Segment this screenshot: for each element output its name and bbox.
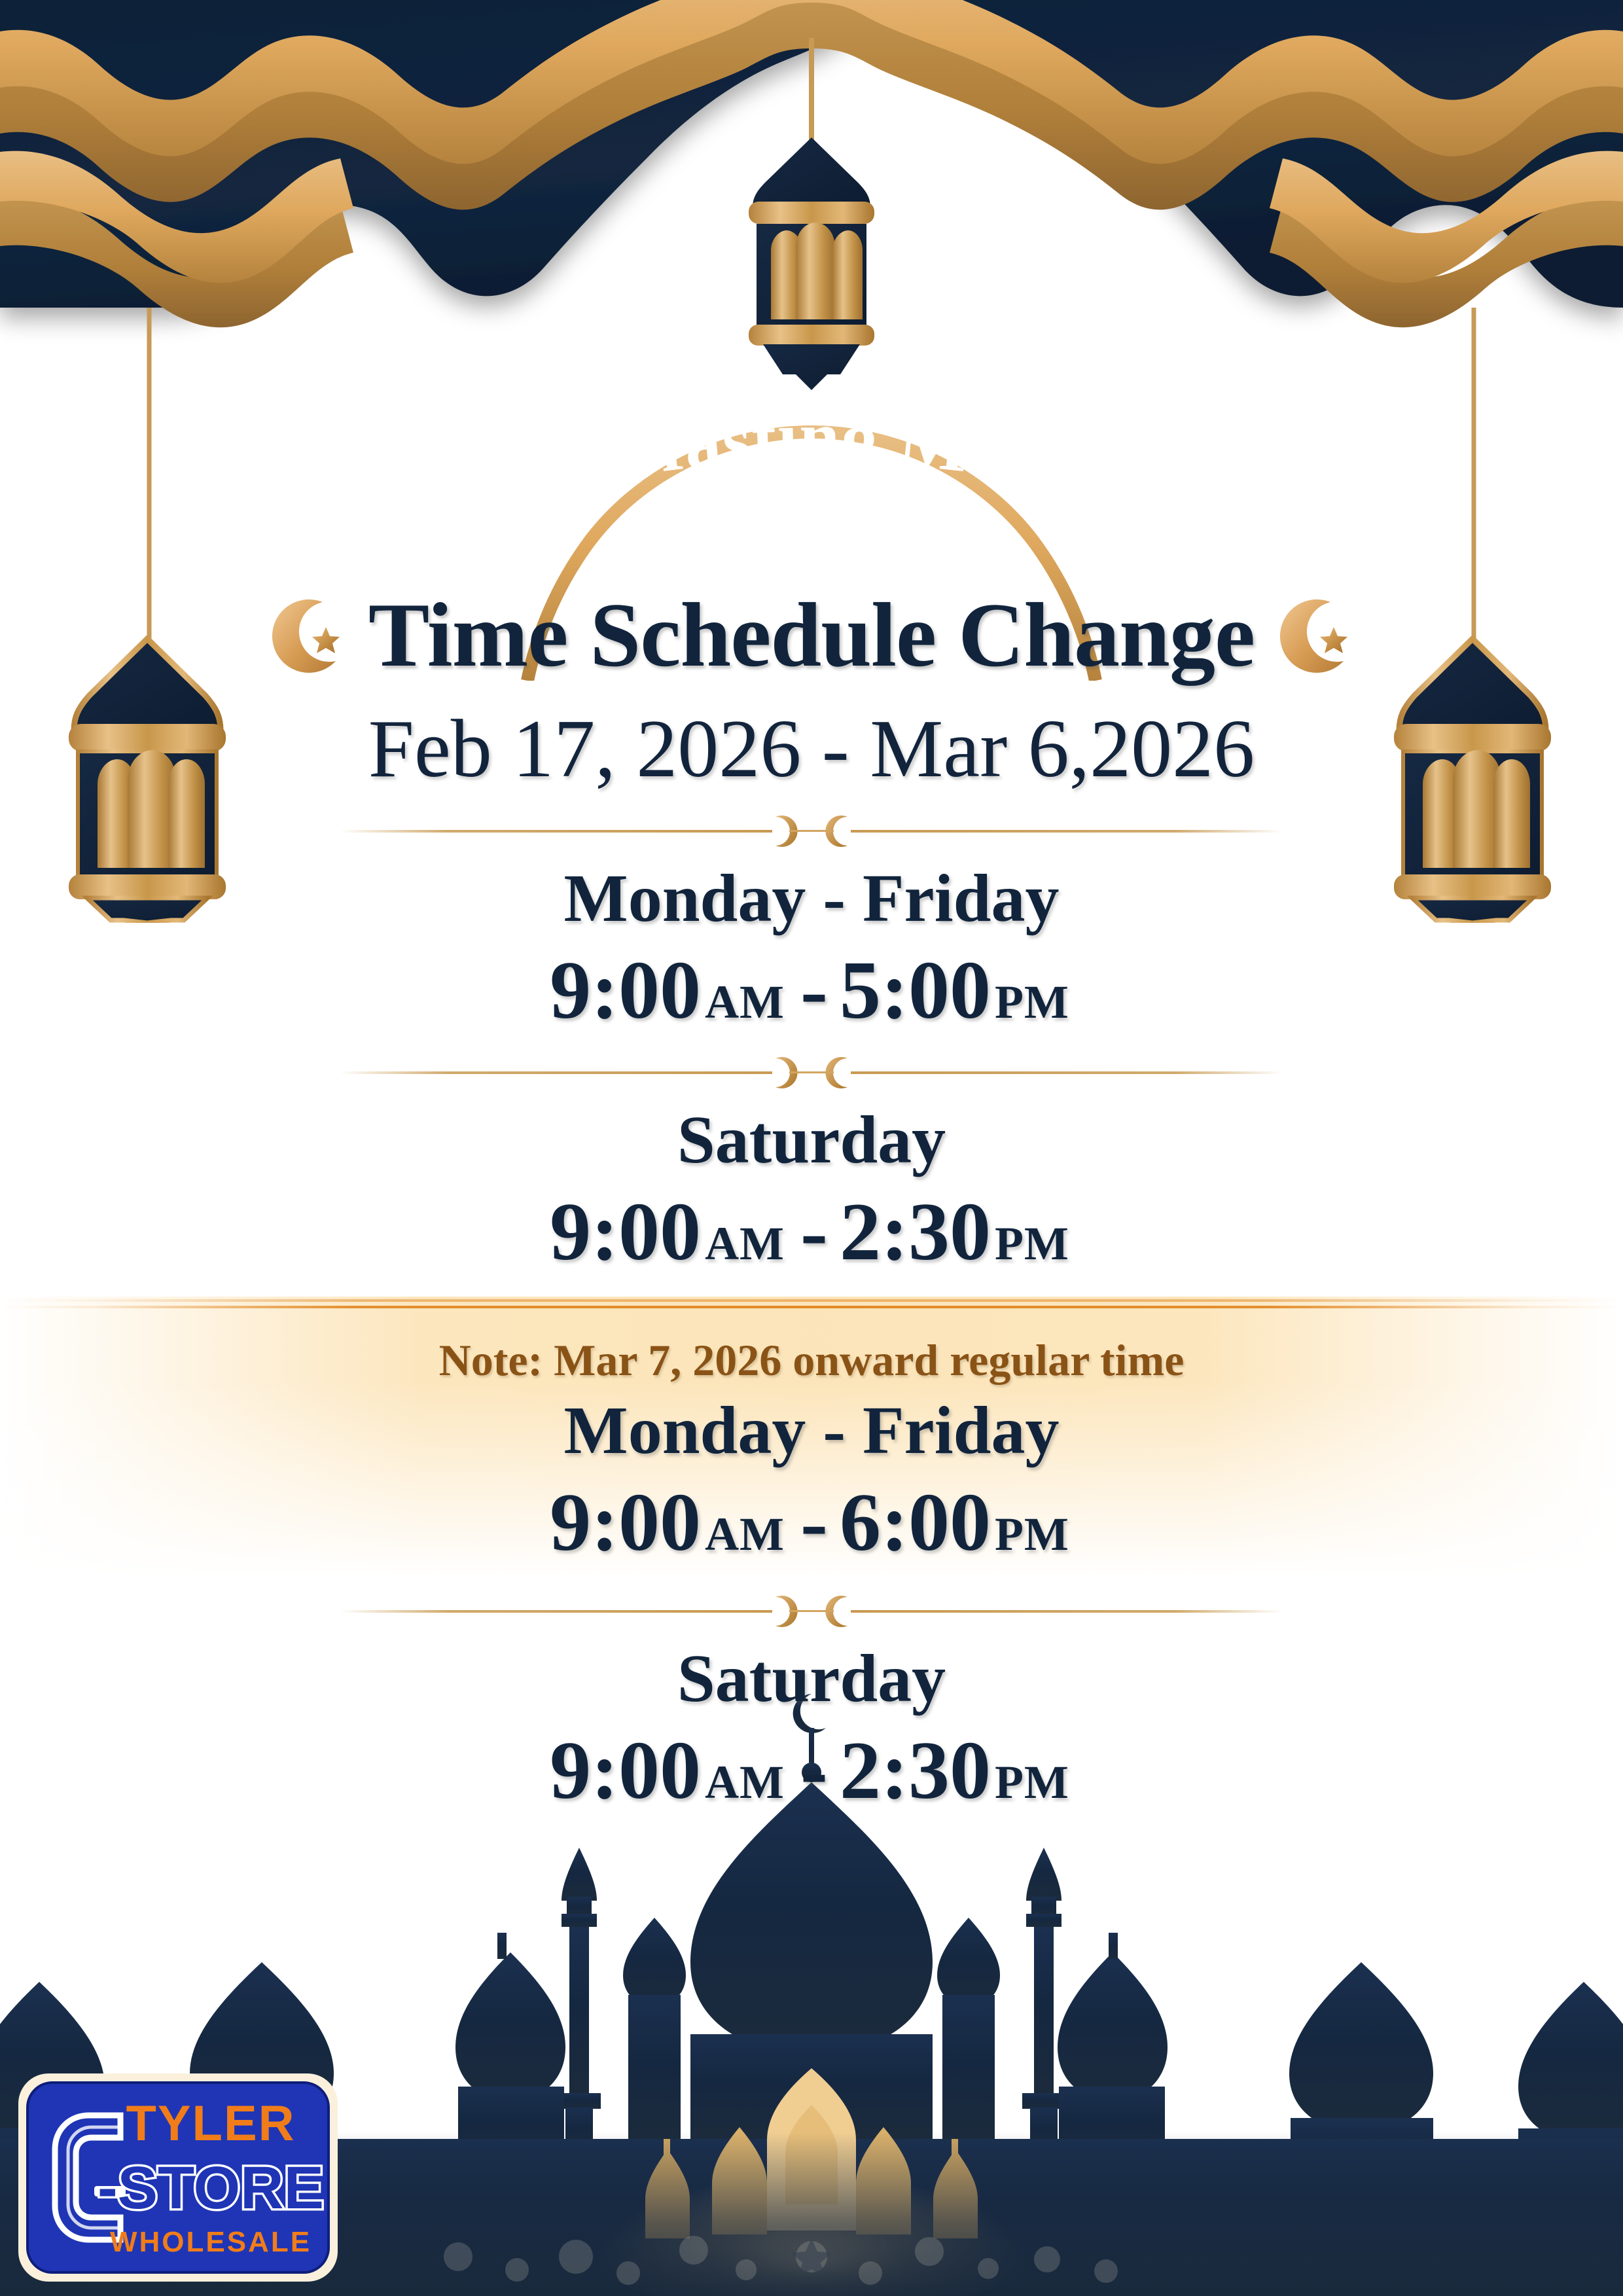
crescent-moon-star-icon [1273,593,1358,678]
time-dash: - [789,1725,840,1816]
close-meridiem: PM [991,1508,1073,1560]
crescent-moon-star-icon [265,593,350,678]
close-time: 2:30 [840,1187,991,1278]
ramadan-saturday-hours: 9:00AM-2:30PM [0,1185,1623,1280]
close-time: 5:00 [840,945,991,1036]
open-time: 9:00 [550,1187,701,1278]
ramadan-weekday-label: Monday - Friday [0,859,1623,937]
close-meridiem: PM [991,1217,1073,1270]
ramadan-weekday-hours: 9:00AM-5:00PM [0,944,1623,1038]
regular-saturday-label: Saturday [0,1640,1623,1717]
time-dash: - [789,945,840,1036]
logo-brand: TYLER [126,2096,295,2151]
regular-saturday-hours: 9:00AM-2:30PM [0,1724,1623,1818]
open-meridiem: AM [701,1508,789,1560]
logo-store: -STORE [98,2155,324,2221]
divider-ornament [0,1050,1623,1096]
time-dash: - [789,1187,840,1278]
regular-weekday-hours: 9:00AM-6:00PM [0,1476,1623,1570]
open-time: 9:00 [550,1725,701,1816]
open-time: 9:00 [550,1477,701,1568]
note-text: Note: Mar 7, 2026 onward regular time [0,1311,1623,1386]
close-time: 2:30 [840,1725,991,1816]
lantern-top [722,131,901,393]
divider-ornament [0,1588,1623,1634]
page-title: Time Schedule Change [368,583,1255,688]
regular-weekday-label: Monday - Friday [0,1391,1623,1469]
divider-ornament [0,808,1623,854]
main-title-row: Time Schedule Change [0,583,1623,688]
open-meridiem: AM [701,1217,789,1270]
ramadan-schedule-poster: Our fasting Month [0,0,1623,2296]
note-band: Note: Mar 7, 2026 onward regular time Mo… [0,1297,1623,1577]
open-meridiem: AM [701,1756,789,1808]
time-dash: - [789,1477,840,1568]
close-time: 6:00 [840,1477,991,1568]
ramadan-saturday-label: Saturday [0,1101,1623,1179]
open-meridiem: AM [701,976,789,1028]
close-meridiem: PM [991,976,1073,1028]
open-time: 9:00 [550,945,701,1036]
poster-content: Time Schedule Change Feb 17, 2026 - Mar … [0,576,1623,1818]
close-meridiem: PM [991,1756,1073,1808]
tyler-c-store-logo[interactable]: TYLER -STORE WHOLESALE [14,2070,342,2286]
date-range: Feb 17, 2026 - Mar 6,2026 [0,702,1623,797]
logo-tagline: WHOLESALE [110,2226,312,2258]
